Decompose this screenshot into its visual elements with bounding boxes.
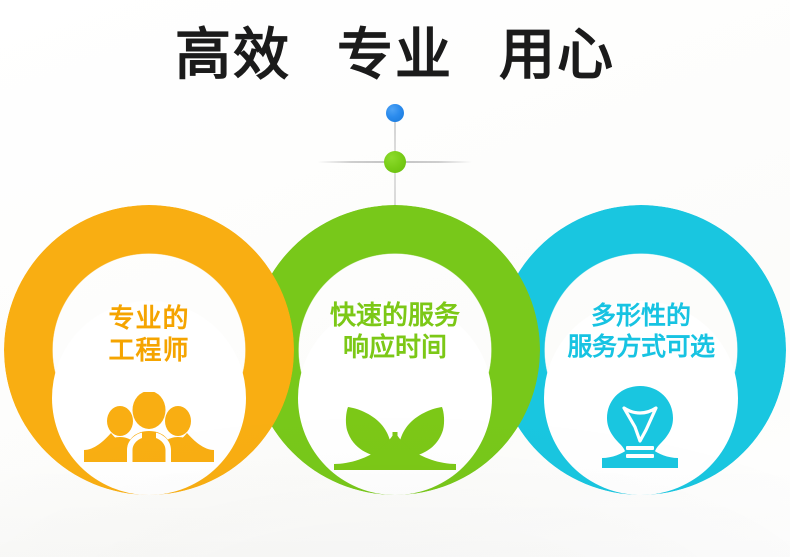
label-line-2: 工程师 (52, 335, 246, 367)
label-line-2: 响应时间 (298, 332, 492, 364)
label-line-2: 服务方式可选 (536, 331, 746, 362)
label-professional-engineers: 专业的 工程师 (52, 303, 246, 367)
infographic-canvas: 高效专业用心 专业的 工程师 快速的服务 响应时间 多形性的 服务方式可选 (0, 0, 790, 557)
label-fast-response: 快速的服务 响应时间 (298, 300, 492, 364)
label-line-1: 多形性的 (536, 300, 746, 331)
headline-segment-2: 专业 (337, 26, 453, 86)
lightbulb-icon (602, 386, 678, 468)
page-title: 高效专业用心 (0, 26, 790, 86)
headline-segment-1: 高效 (175, 26, 291, 86)
blue-dot-icon (386, 104, 404, 122)
label-line-1: 快速的服务 (298, 300, 492, 332)
headline-segment-3: 用心 (499, 26, 615, 86)
label-flexible-service: 多形性的 服务方式可选 (536, 300, 746, 362)
sprout-icon (334, 386, 456, 470)
people-group-icon (84, 392, 214, 462)
green-dot-icon (384, 151, 406, 173)
label-line-1: 专业的 (52, 303, 246, 335)
